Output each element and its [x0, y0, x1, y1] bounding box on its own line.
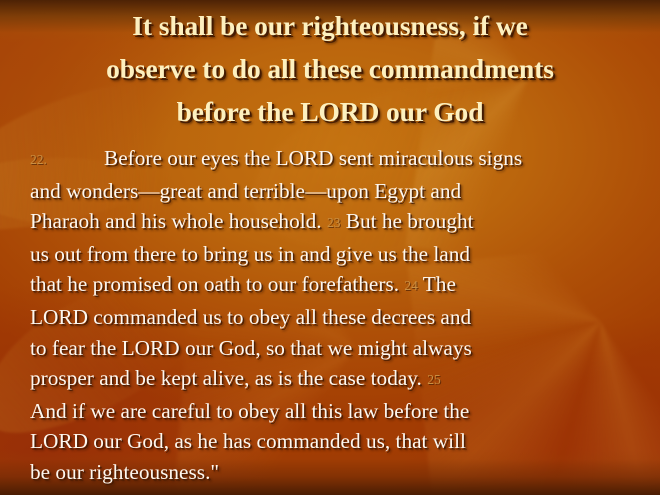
title-line-3: before the LORD our God: [14, 90, 646, 133]
body-line-5-text-before: that he promised on oath to our forefath…: [30, 272, 404, 296]
body-line-5-text-after: The: [418, 272, 456, 296]
slide-canvas: It shall be our righteousness, if we obs…: [0, 0, 660, 495]
body-line-4: us out from there to bring us in and giv…: [30, 239, 636, 270]
body-line-9: And if we are careful to obey all this l…: [30, 396, 636, 427]
body-line-1: 22.Before our eyes the LORD sent miracul…: [30, 143, 636, 176]
body-line-3-text-before: Pharaoh and his whole household.: [30, 209, 327, 233]
verse-number-25: 25: [427, 372, 441, 387]
body-line-6-text: LORD commanded us to obey all these decr…: [30, 305, 471, 329]
body-line-3: Pharaoh and his whole household. 23 But …: [30, 206, 636, 239]
slide-content: It shall be our righteousness, if we obs…: [0, 0, 660, 495]
body-line-1-text: Before our eyes the LORD sent miraculous…: [104, 146, 522, 170]
verse-number-23: 23: [327, 215, 341, 230]
body-line-10-text: LORD our God, as he has commanded us, th…: [30, 429, 466, 453]
verse-number-22: 22.: [30, 145, 82, 176]
body-line-8-text-before: prosper and be kept alive, as is the cas…: [30, 366, 427, 390]
slide-title: It shall be our righteousness, if we obs…: [14, 4, 646, 133]
body-line-2-text: and wonders—great and terrible—upon Egyp…: [30, 179, 461, 203]
body-line-7: to fear the LORD our God, so that we mig…: [30, 333, 636, 364]
body-line-11-text: be our righteousness.": [30, 460, 219, 484]
title-line-1: It shall be our righteousness, if we: [14, 4, 646, 47]
body-line-2: and wonders—great and terrible—upon Egyp…: [30, 176, 636, 207]
title-line-2: observe to do all these commandments: [14, 47, 646, 90]
body-line-6: LORD commanded us to obey all these decr…: [30, 302, 636, 333]
body-line-11: be our righteousness.": [30, 457, 636, 488]
body-line-5: that he promised on oath to our forefath…: [30, 269, 636, 302]
body-line-8: prosper and be kept alive, as is the cas…: [30, 363, 636, 396]
body-line-3-text-after: But he brought: [340, 209, 473, 233]
slide-body-text: 22.Before our eyes the LORD sent miracul…: [30, 143, 636, 488]
verse-number-24: 24: [404, 278, 418, 293]
body-line-4-text: us out from there to bring us in and giv…: [30, 242, 470, 266]
body-line-9-text: And if we are careful to obey all this l…: [30, 399, 469, 423]
body-line-10: LORD our God, as he has commanded us, th…: [30, 426, 636, 457]
body-line-7-text: to fear the LORD our God, so that we mig…: [30, 336, 472, 360]
